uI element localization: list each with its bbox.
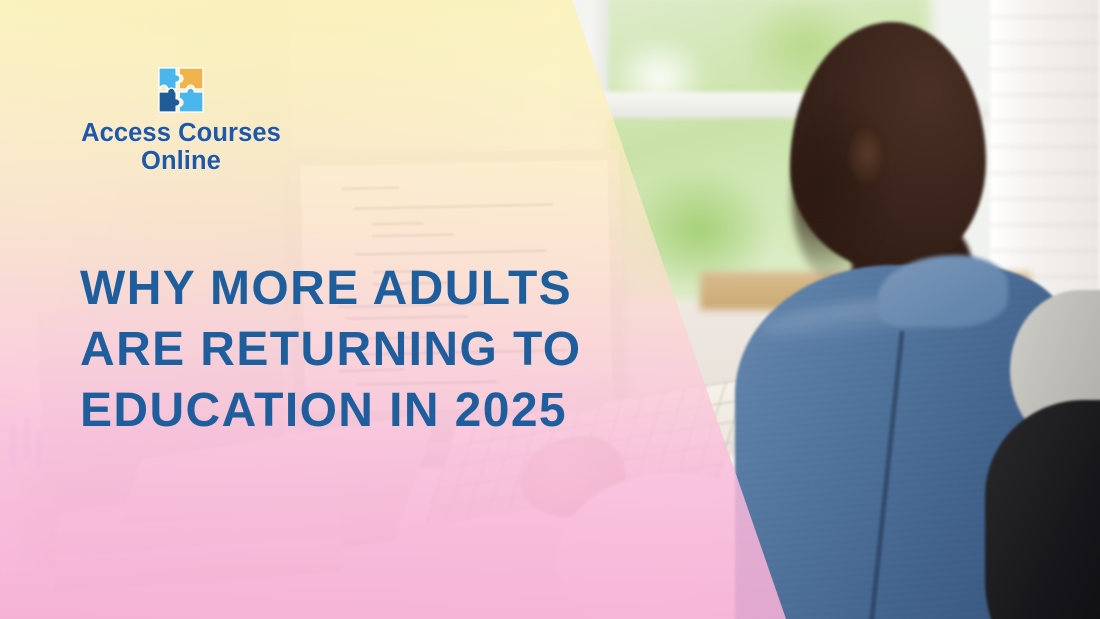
headline-line-1: WHY MORE ADULTS: [80, 258, 600, 319]
headline-line-3: EDUCATION IN 2025: [80, 380, 600, 441]
logo-text-line-1: Access Courses: [81, 119, 281, 147]
blog-header-banner: Access Courses Online WHY MORE ADULTS AR…: [0, 0, 1100, 619]
headline-line-2: ARE RETURNING TO: [80, 319, 600, 380]
headline: WHY MORE ADULTS ARE RETURNING TO EDUCATI…: [80, 258, 600, 441]
jigsaw-puzzle-icon: [157, 66, 205, 114]
logo-text-line-2: Online: [141, 147, 221, 175]
brand-logo[interactable]: Access Courses Online: [66, 66, 296, 175]
ear: [848, 128, 884, 184]
